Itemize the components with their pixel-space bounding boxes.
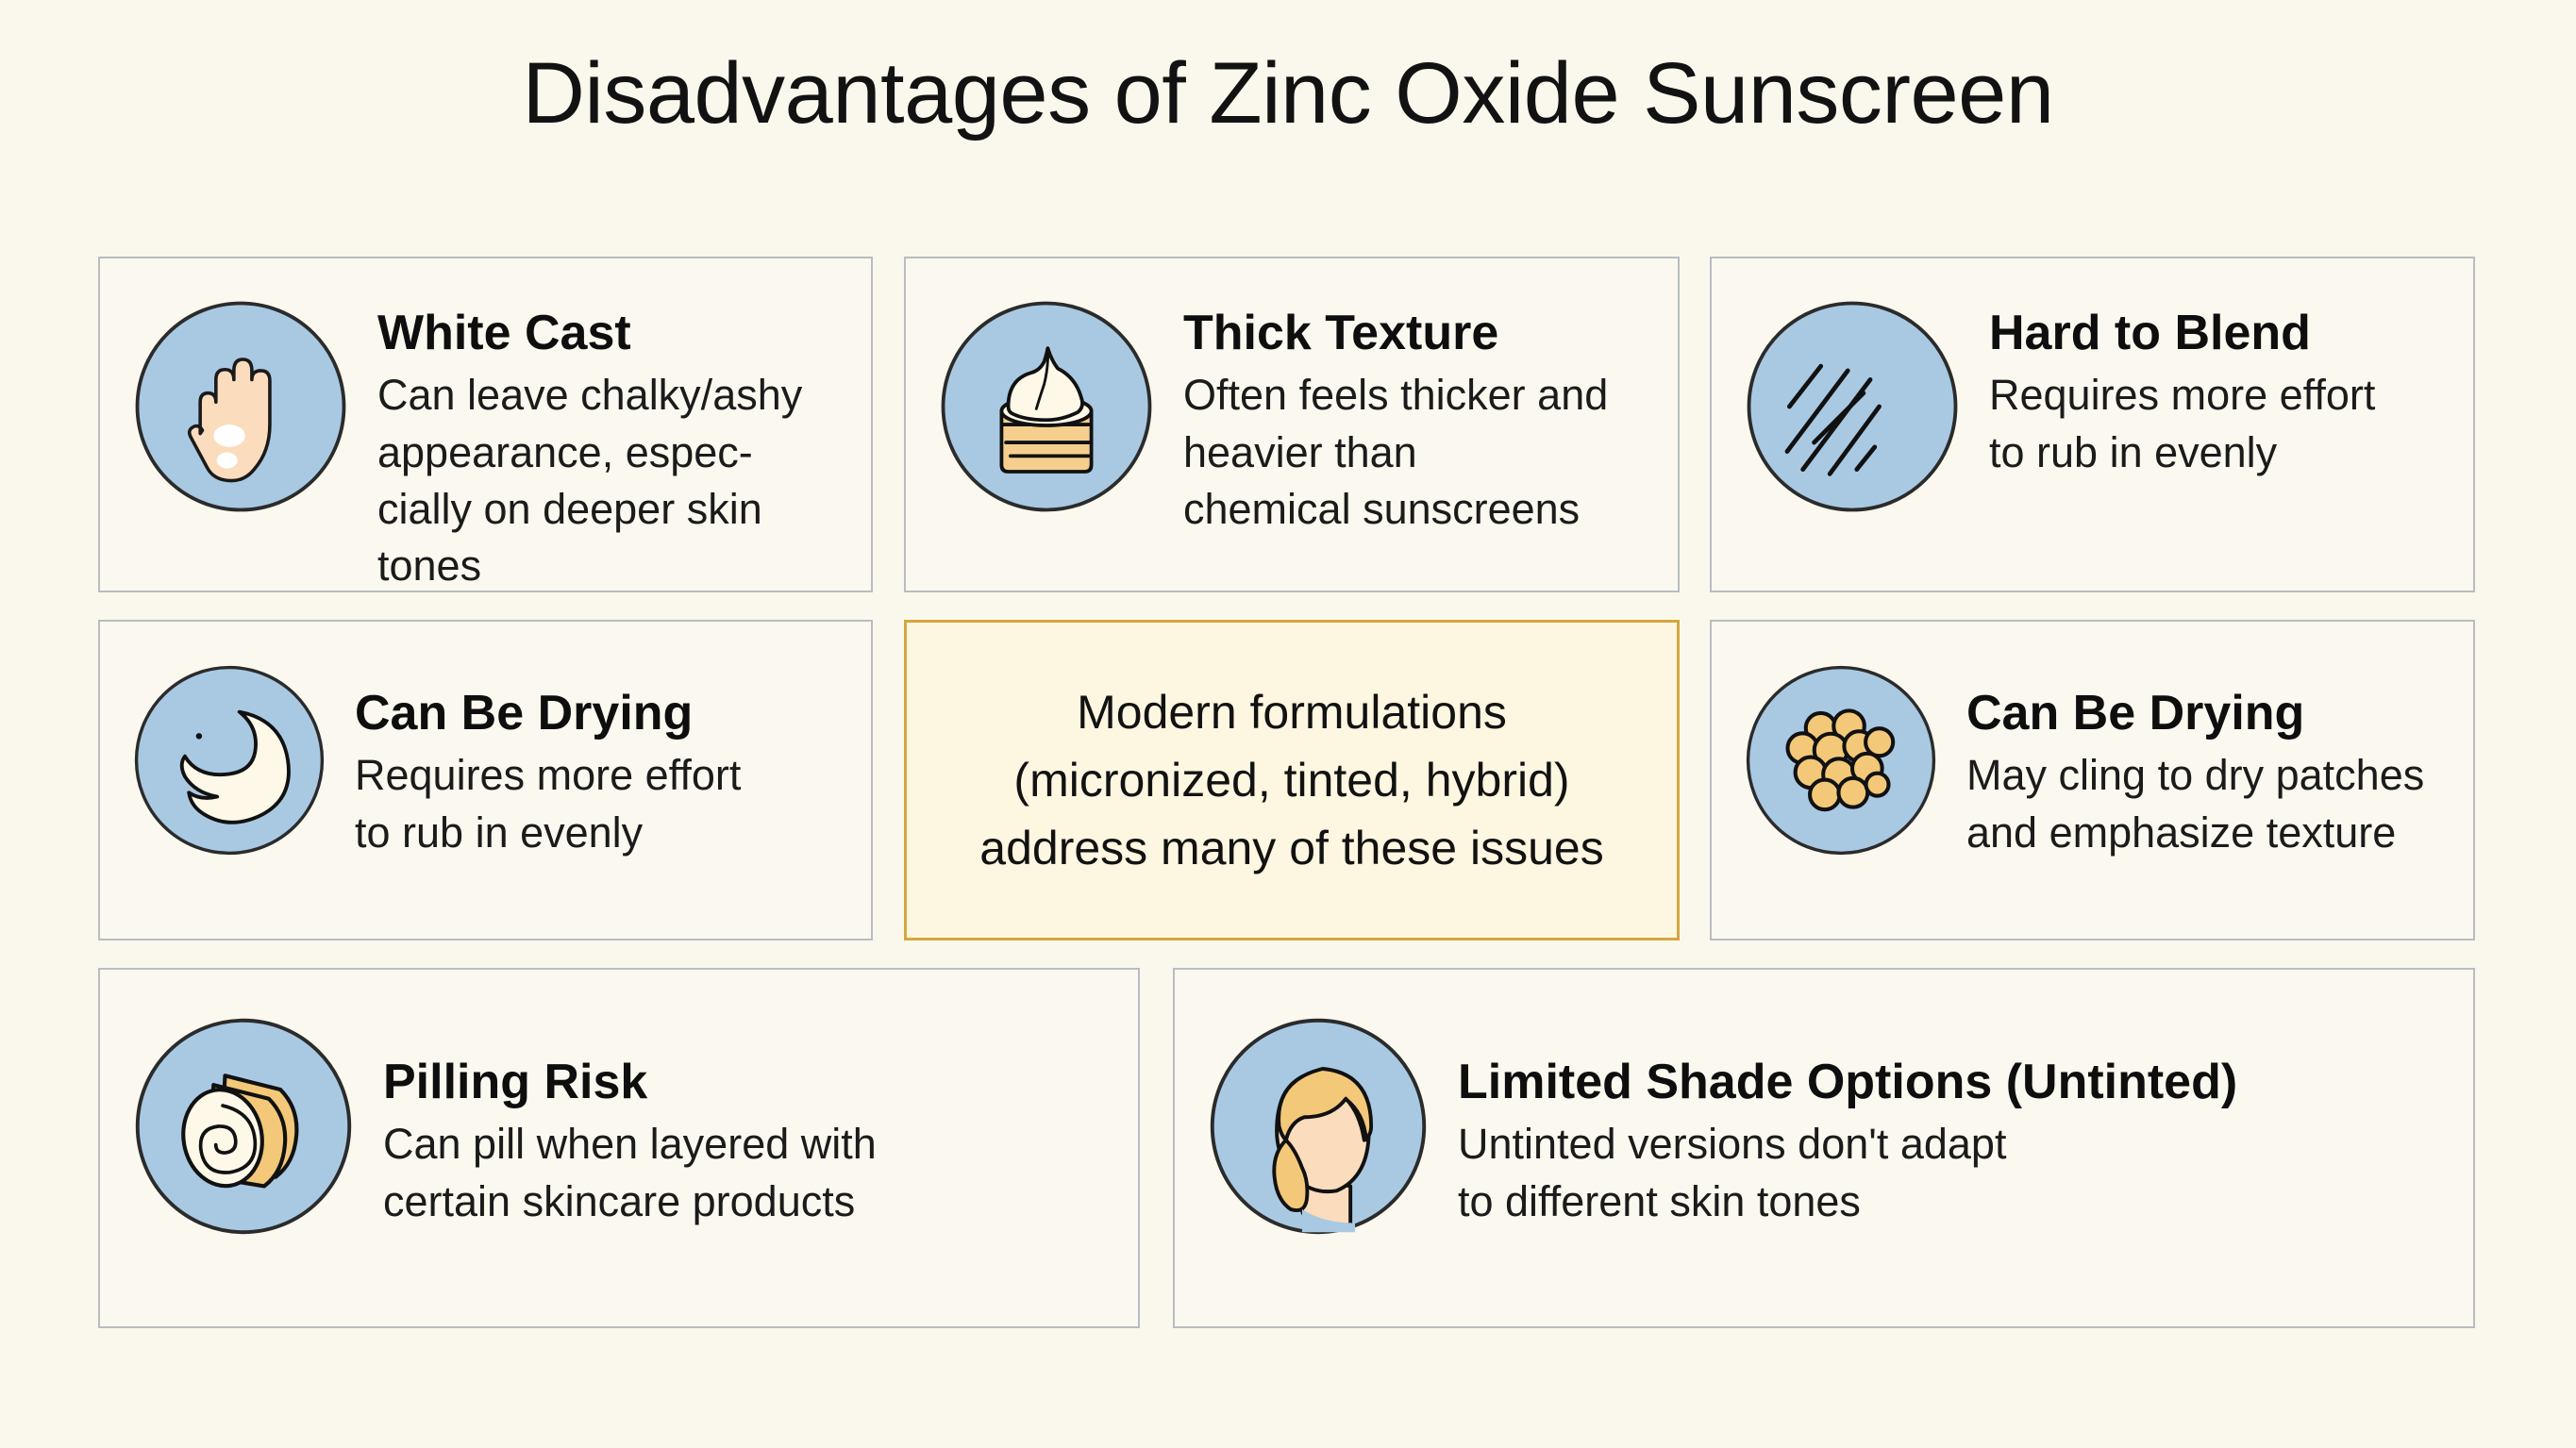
card-title: White Cast: [377, 306, 843, 361]
card-body: Can leave chalky/ashy appearance, espec-…: [377, 367, 843, 594]
card-text: Can Be Drying May cling to dry patches a…: [1966, 654, 2445, 861]
rolled-spiral-icon: [128, 1011, 359, 1241]
card-body: Untinted versions don't adapt to differe…: [1458, 1116, 2445, 1230]
cream-jar-icon: [934, 294, 1159, 519]
card-text: Thick Texture Often feels thicker and he…: [1183, 291, 1649, 538]
card-hard-to-blend[interactable]: Hard to Blend Requires more effort to ru…: [1710, 257, 2475, 592]
card-text: Hard to Blend Requires more effort to ru…: [1989, 291, 2445, 481]
card-title: Hard to Blend: [1989, 306, 2445, 361]
card-pilling-risk[interactable]: Pilling Risk Can pill when layered with …: [98, 968, 1140, 1328]
card-title: Limited Shade Options (Untinted): [1458, 1055, 2445, 1110]
card-white-cast[interactable]: White Cast Can leave chalky/ashy appeara…: [98, 257, 873, 592]
card-limited-shade-options[interactable]: Limited Shade Options (Untinted) Untinte…: [1173, 968, 2475, 1328]
card-title: Thick Texture: [1183, 306, 1649, 361]
card-title: Can Be Drying: [355, 686, 843, 741]
diagonal-streaks-icon: [1740, 294, 1965, 519]
card-body: Often feels thicker and heavier than che…: [1183, 367, 1649, 538]
particle-cluster-icon: [1740, 659, 1942, 861]
card-can-be-drying-texture[interactable]: Can Be Drying May cling to dry patches a…: [1710, 620, 2475, 940]
card-text: Limited Shade Options (Untinted) Untinte…: [1458, 1002, 2445, 1230]
face-portrait-icon: [1203, 1011, 1433, 1241]
card-grid: White Cast Can leave chalky/ashy appeara…: [98, 257, 2475, 1328]
highlight-body: Modern formulations (micronized, tinted,…: [979, 678, 1603, 882]
hand-with-white-patches-icon: [128, 294, 353, 519]
card-body: Requires more effort to rub in evenly: [355, 747, 843, 861]
card-text: Pilling Risk Can pill when layered with …: [383, 1002, 1110, 1230]
card-body: Requires more effort to rub in evenly: [1989, 367, 2445, 481]
card-body: Can pill when layered with certain skinc…: [383, 1116, 1110, 1230]
crescent-swirl-icon: [128, 659, 330, 861]
card-body: May cling to dry patches and emphasize t…: [1966, 747, 2445, 861]
card-text: White Cast Can leave chalky/ashy appeara…: [377, 291, 843, 594]
card-text: Can Be Drying Requires more effort to ru…: [355, 654, 843, 861]
page-title: Disadvantages of Zinc Oxide Sunscreen: [0, 45, 2576, 142]
card-title: Can Be Drying: [1966, 686, 2445, 741]
card-thick-texture[interactable]: Thick Texture Often feels thicker and he…: [904, 257, 1680, 592]
card-can-be-drying[interactable]: Can Be Drying Requires more effort to ru…: [98, 620, 873, 940]
card-modern-formulations[interactable]: Modern formulations (micronized, tinted,…: [904, 620, 1680, 940]
card-title: Pilling Risk: [383, 1055, 1110, 1110]
